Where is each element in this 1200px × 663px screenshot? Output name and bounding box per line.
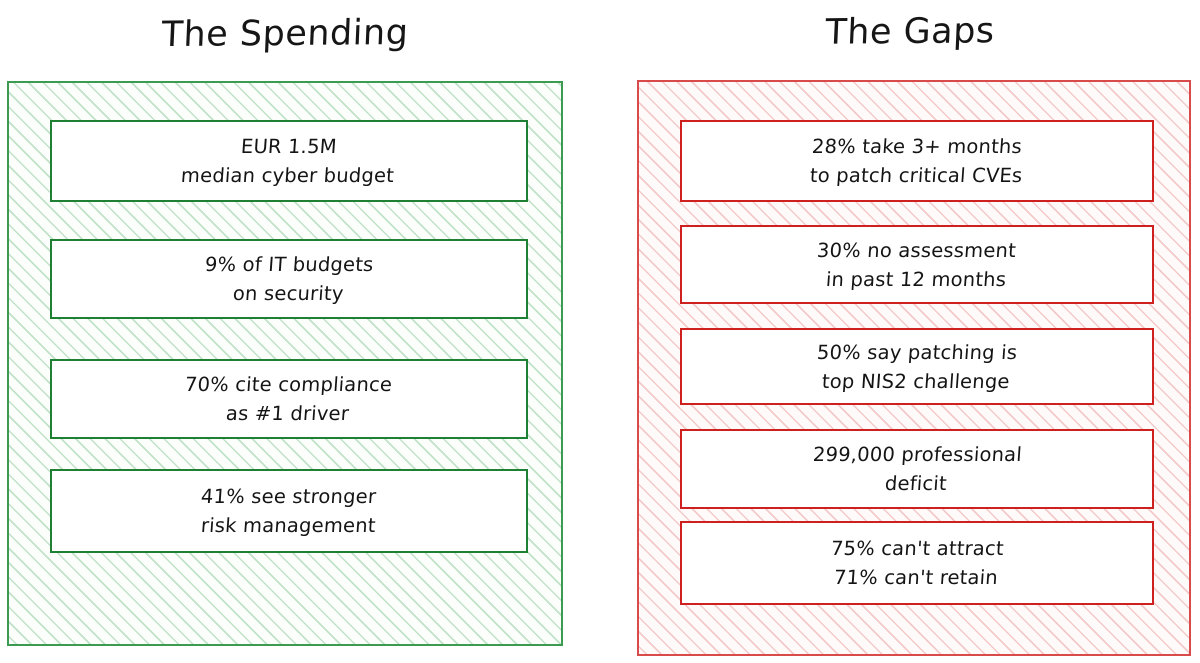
stat-card-line-1: 28% take 3+ months: [811, 132, 1023, 161]
stat-card-line-2: top NIS2 challenge: [821, 367, 1011, 396]
stat-card-line-1: 75% can't attract: [830, 534, 1005, 563]
stat-card-line-1: 50% say patching is: [816, 338, 1018, 367]
panel-gaps: 28% take 3+ months to patch critical CVE…: [637, 80, 1191, 656]
stat-card-line-2: on security: [232, 279, 345, 308]
stat-card-line-1: 30% no assessment: [816, 236, 1017, 265]
stat-card-gaps-3: 50% say patching is top NIS2 challenge: [680, 328, 1154, 405]
stat-card-line-1: 70% cite compliance: [184, 370, 393, 399]
panel-spending: EUR 1.5M median cyber budget 9% of IT bu…: [7, 81, 563, 646]
column-title-spending: The Spending: [0, 12, 571, 57]
stat-card-line-2: deficit: [884, 469, 948, 498]
stat-card-line-2: as #1 driver: [225, 399, 350, 428]
stat-card-spending-4: 41% see stronger risk management: [50, 469, 528, 553]
stat-card-spending-3: 70% cite compliance as #1 driver: [50, 359, 528, 439]
stat-card-gaps-5: 75% can't attract 71% can't retain: [680, 521, 1154, 605]
stat-card-line-2: median cyber budget: [180, 161, 395, 190]
stat-card-spending-1: EUR 1.5M median cyber budget: [50, 120, 528, 202]
stat-card-gaps-4: 299,000 professional deficit: [680, 429, 1154, 509]
stat-card-line-1: 41% see stronger: [200, 482, 377, 511]
comparison-board: The Spending EUR 1.5M median cyber budge…: [0, 0, 1200, 663]
stat-card-line-1: EUR 1.5M: [240, 132, 338, 161]
stat-card-line-1: 9% of IT budgets: [204, 250, 375, 279]
stat-card-line-2: in past 12 months: [825, 265, 1007, 294]
stat-card-line-2: 71% can't retain: [833, 563, 999, 592]
stat-card-line-1: 299,000 professional: [811, 440, 1022, 469]
stat-card-gaps-2: 30% no assessment in past 12 months: [680, 225, 1154, 304]
stat-card-spending-2: 9% of IT budgets on security: [50, 239, 528, 319]
column-title-gaps: The Gaps: [629, 10, 1191, 55]
stat-card-gaps-1: 28% take 3+ months to patch critical CVE…: [680, 120, 1154, 202]
stat-card-line-2: to patch critical CVEs: [809, 161, 1023, 190]
stat-card-line-2: risk management: [200, 511, 377, 540]
